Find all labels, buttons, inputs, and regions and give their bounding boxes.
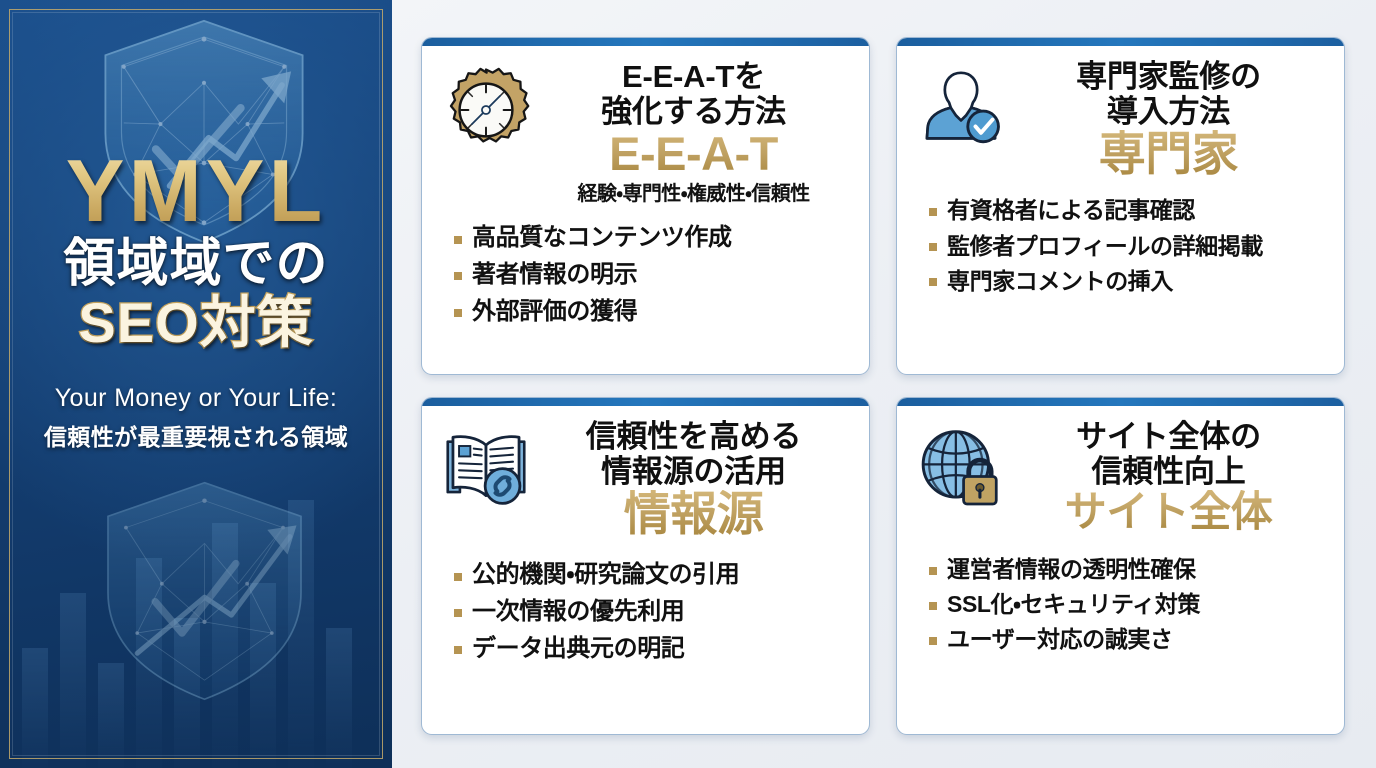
- card-header: E-E-A-Tを 強化する方法 E-E-A-T 経験・専門性・権威性・信頼性: [440, 60, 849, 206]
- card-title-column: 専門家監修の 導入方法 専門家: [1017, 60, 1324, 179]
- card-expert-supervision[interactable]: 専門家監修の 導入方法 専門家 有資格者による記事確認 監修者プロフィールの詳細…: [896, 37, 1345, 375]
- open-book-link-icon: [440, 420, 532, 506]
- title-panel: YMYL 領域域での SEO対策 Your Money or Your Life…: [0, 0, 392, 768]
- card-eeat[interactable]: E-E-A-Tを 強化する方法 E-E-A-T 経験・専門性・権威性・信頼性 高…: [421, 37, 870, 375]
- card-header: 専門家監修の 導入方法 専門家: [915, 60, 1324, 179]
- card-header: サイト全体の 信頼性向上 サイト全体: [915, 420, 1324, 534]
- card-keyword: 情報源: [542, 490, 845, 539]
- card-note: 経験・専門性・権威性・信頼性: [542, 177, 845, 206]
- list-item: 有資格者による記事確認: [929, 193, 1324, 228]
- list-item: 外部評価の獲得: [454, 294, 849, 331]
- card-sitewide-trust[interactable]: サイト全体の 信頼性向上 サイト全体 運営者情報の透明性確保 SSL化・セキュリ…: [896, 397, 1345, 735]
- card-keyword: 専門家: [1017, 130, 1320, 179]
- bullet-list: 高品質なコンテンツ作成 著者情報の明示 外部評価の獲得: [440, 220, 849, 330]
- card-title-column: 信頼性を高める 情報源の活用 情報源: [542, 420, 849, 539]
- card-keyword: サイト全体: [1017, 490, 1320, 534]
- title-block: YMYL 領域域での SEO対策 Your Money or Your Life…: [0, 148, 392, 452]
- card-title: 専門家監修の 導入方法: [1017, 60, 1320, 129]
- card-title: 信頼性を高める 情報源の活用: [542, 420, 845, 489]
- list-item: 公的機関・研究論文の引用: [454, 557, 849, 594]
- brand-title: YMYL: [14, 148, 378, 234]
- infographic-stage: YMYL 領域域での SEO対策 Your Money or Your Life…: [0, 0, 1376, 768]
- list-item: 著者情報の明示: [454, 257, 849, 294]
- card-keyword: E-E-A-T: [542, 130, 845, 179]
- list-item: 運営者情報の透明性確保: [929, 552, 1324, 587]
- list-item: 監修者プロフィールの詳細掲載: [929, 229, 1324, 264]
- card-title: E-E-A-Tを 強化する方法: [542, 60, 845, 129]
- title-line-2: 領域域での: [14, 236, 378, 292]
- list-item: データ出典元の明記: [454, 631, 849, 668]
- bullet-list: 有資格者による記事確認 監修者プロフィールの詳細掲載 専門家コメントの挿入: [915, 193, 1324, 299]
- card-title-column: サイト全体の 信頼性向上 サイト全体: [1017, 420, 1324, 534]
- subtitle-japanese: 信頼性が最重要視される領域: [14, 418, 378, 452]
- bullet-list: 運営者情報の透明性確保 SSL化・セキュリティ対策 ユーザー対応の誠実さ: [915, 552, 1324, 658]
- bullet-list: 公的機関・研究論文の引用 一次情報の優先利用 データ出典元の明記: [440, 557, 849, 667]
- card-header: 信頼性を高める 情報源の活用 情報源: [440, 420, 849, 539]
- list-item: SSL化・セキュリティ対策: [929, 587, 1324, 622]
- list-item: 一次情報の優先利用: [454, 594, 849, 631]
- list-item: 高品質なコンテンツ作成: [454, 220, 849, 257]
- list-item: 専門家コメントの挿入: [929, 264, 1324, 299]
- card-title: サイト全体の 信頼性向上: [1017, 420, 1320, 489]
- card-grid: E-E-A-Tを 強化する方法 E-E-A-T 経験・専門性・権威性・信頼性 高…: [392, 0, 1376, 768]
- list-item: ユーザー対応の誠実さ: [929, 622, 1324, 657]
- globe-lock-icon: [915, 420, 1007, 508]
- subtitle-english: Your Money or Your Life:: [14, 384, 378, 413]
- compass-gear-icon: [440, 60, 532, 154]
- card-title-column: E-E-A-Tを 強化する方法 E-E-A-T 経験・専門性・権威性・信頼性: [542, 60, 849, 206]
- person-verified-icon: [915, 60, 1007, 146]
- title-line-3: SEO対策: [14, 293, 378, 353]
- card-information-sources[interactable]: 信頼性を高める 情報源の活用 情報源 公的機関・研究論文の引用 一次情報の優先利…: [421, 397, 870, 735]
